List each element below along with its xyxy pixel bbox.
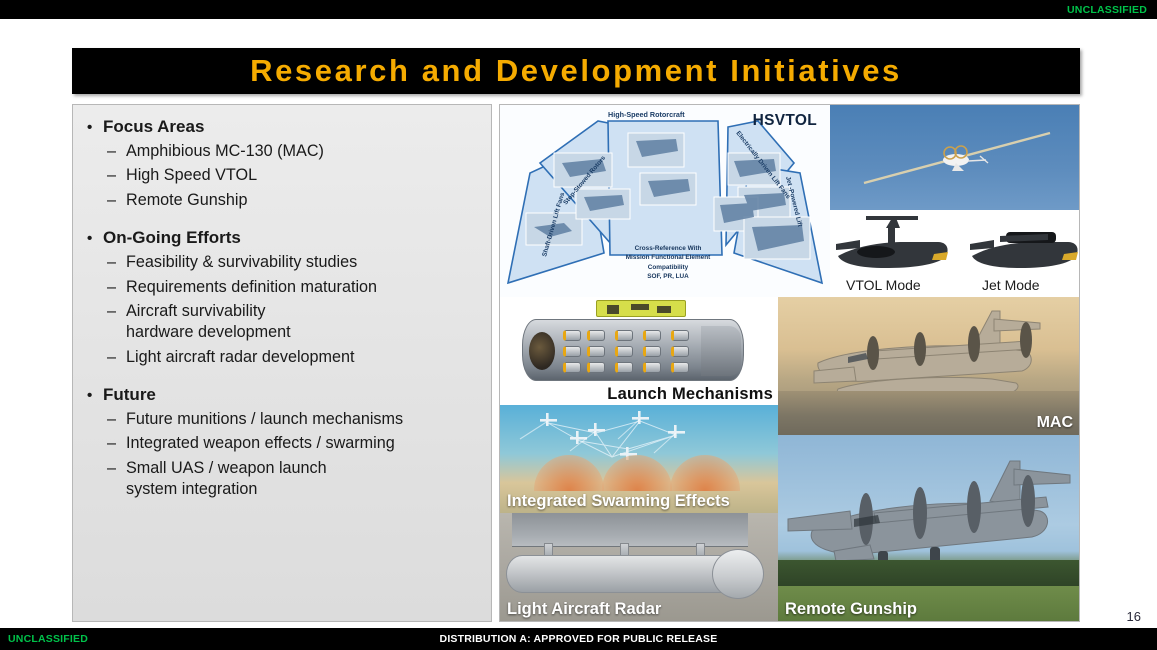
bullet-item: – Amphibious MC-130 (MAC)	[87, 141, 481, 162]
page-title: Research and Development Initiatives	[250, 53, 902, 89]
hsvtol-aircraft-photo	[830, 105, 1080, 210]
remote-gunship-label: Remote Gunship	[785, 600, 917, 619]
bullet-item-label: Aircraft survivability hardware developm…	[126, 301, 291, 344]
jet-mode-label: Jet Mode	[982, 277, 1040, 293]
bullet-item: – Requirements definition maturation	[87, 277, 481, 298]
dash-icon: –	[107, 433, 126, 454]
bullet-item: – High Speed VTOL	[87, 165, 481, 186]
bullet-group-focus-areas: • Focus Areas – Amphibious MC-130 (MAC) …	[87, 117, 481, 211]
top-classification-banner: UNCLASSIFIED	[0, 0, 1157, 19]
mac-label: MAC	[1037, 414, 1073, 432]
bullet-item: – Light aircraft radar development	[87, 347, 481, 368]
bullet-content-panel: • Focus Areas – Amphibious MC-130 (MAC) …	[72, 104, 492, 622]
bullet-group-future: • Future – Future munitions / launch mec…	[87, 385, 481, 501]
hsvtol-title-label: HSVTOL	[753, 112, 817, 130]
dispenser-nose	[529, 332, 555, 370]
top-classification-label: UNCLASSIFIED	[1067, 4, 1147, 16]
bullet-item-label: Feasibility & survivability studies	[126, 252, 357, 273]
dash-icon: –	[107, 252, 126, 273]
bullet-item-label: Future munitions / launch mechanisms	[126, 409, 403, 430]
dash-icon: –	[107, 458, 126, 479]
svg-text:High-Speed Rotorcraft: High-Speed Rotorcraft	[608, 110, 685, 119]
bullet-heading-label: Focus Areas	[103, 117, 204, 137]
bullet-item-label: Remote Gunship	[126, 190, 247, 211]
dash-icon: –	[107, 277, 126, 298]
dash-icon: –	[107, 409, 126, 430]
bullet-item-label: Integrated weapon effects / swarming	[126, 433, 395, 454]
bottom-classification-banner: UNCLASSIFIED DISTRIBUTION A: APPROVED FO…	[0, 628, 1157, 650]
vtol-mode-label: VTOL Mode	[846, 277, 921, 293]
slide-title-bar: Research and Development Initiatives	[72, 48, 1080, 94]
dash-icon: –	[107, 165, 126, 186]
radar-pod-nose	[712, 549, 764, 599]
bullet-heading-label: On-Going Efforts	[103, 228, 241, 248]
bullet-item: – Small UAS / weapon launch system integ…	[87, 458, 481, 501]
circuit-board-graphic	[596, 300, 686, 317]
bullet-item-label: Light aircraft radar development	[126, 347, 355, 368]
remote-gunship-photo: Remote Gunship	[778, 435, 1080, 622]
bullet-item: – Feasibility & survivability studies	[87, 252, 481, 273]
swarming-effects-photo: Integrated Swarming Effects	[500, 405, 778, 513]
hsvtol-diagram: High-Speed Rotorcraft Shaft-Driven Lift …	[500, 105, 830, 297]
launch-mechanisms-label: Launch Mechanisms	[607, 385, 773, 404]
bullet-dot-icon: •	[87, 120, 103, 135]
water-surface	[778, 391, 1080, 435]
bullet-item: – Integrated weapon effects / swarming	[87, 433, 481, 454]
bullet-item-label: Requirements definition maturation	[126, 277, 377, 298]
slide: UNCLASSIFIED Research and Development In…	[0, 0, 1157, 650]
swarming-effects-label: Integrated Swarming Effects	[507, 492, 730, 511]
bullet-dot-icon: •	[87, 231, 103, 246]
treeline	[778, 560, 1080, 586]
radar-pod	[506, 555, 742, 593]
light-aircraft-radar-label: Light Aircraft Radar	[507, 600, 661, 619]
hsvtol-fan-graphic: High-Speed Rotorcraft Shaft-Driven Lift …	[500, 105, 830, 297]
page-number: 16	[1127, 609, 1141, 624]
bullet-item-label: Small UAS / weapon launch system integra…	[126, 458, 327, 501]
glider-aircraft-icon	[860, 127, 1055, 189]
bullet-heading-future: • Future	[87, 385, 481, 405]
bullet-item: – Aircraft survivability hardware develo…	[87, 301, 481, 344]
dash-icon: –	[107, 190, 126, 211]
light-aircraft-radar-photo: Light Aircraft Radar	[500, 513, 778, 622]
aircraft-underside	[512, 513, 748, 547]
mac-aircraft-photo: MAC	[778, 297, 1080, 435]
hsvtol-center-note: Cross-Reference With Mission Functional …	[608, 244, 728, 281]
bullet-item: – Future munitions / launch mechanisms	[87, 409, 481, 430]
bullet-item-label: Amphibious MC-130 (MAC)	[126, 141, 324, 162]
dash-icon: –	[107, 301, 126, 322]
dash-icon: –	[107, 141, 126, 162]
bullet-heading-label: Future	[103, 385, 156, 405]
bullet-group-ongoing-efforts: • On-Going Efforts – Feasibility & survi…	[87, 228, 481, 368]
launch-mechanisms-photo: Launch Mechanisms	[500, 297, 778, 405]
distribution-statement: DISTRIBUTION A: APPROVED FOR PUBLIC RELE…	[0, 633, 1157, 645]
dispenser-cutaway-graphic	[522, 319, 744, 381]
bullet-heading-focus-areas: • Focus Areas	[87, 117, 481, 137]
bullet-item-label: High Speed VTOL	[126, 165, 257, 186]
flight-mode-illustrations: VTOL Mode Jet Mode	[830, 210, 1080, 297]
bullet-item: – Remote Gunship	[87, 190, 481, 211]
bullet-heading-ongoing-efforts: • On-Going Efforts	[87, 228, 481, 248]
dash-icon: –	[107, 347, 126, 368]
bullet-dot-icon: •	[87, 388, 103, 403]
image-collage-panel: High-Speed Rotorcraft Shaft-Driven Lift …	[499, 104, 1080, 622]
